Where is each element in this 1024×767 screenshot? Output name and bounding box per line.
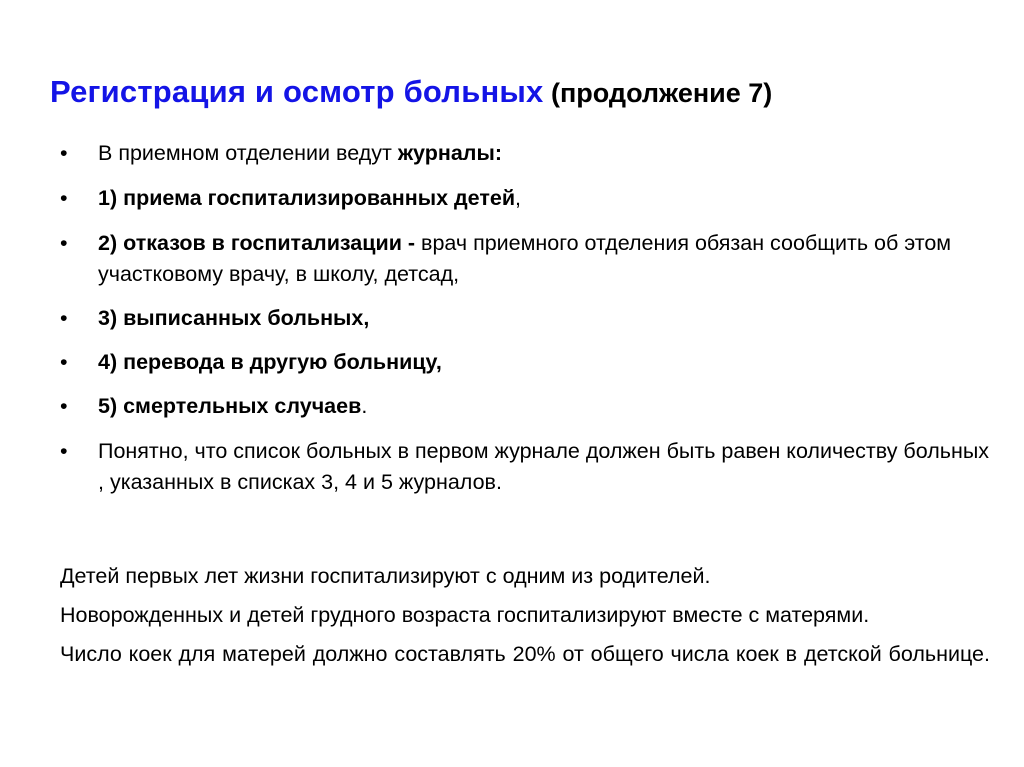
page-title: Регистрация и осмотр больных (продолжени… [50, 74, 990, 111]
list-item-segment: 2) отказов в госпитализации - [98, 231, 421, 255]
list-item-segment: 4) перевода в другую больницу, [98, 350, 442, 374]
bullet-point-icon: • [60, 347, 68, 378]
slide-canvas: Регистрация и осмотр больных (продолжени… [0, 0, 1024, 767]
list-item-text: 3) выписанных больных, [98, 306, 369, 330]
list-item: • 5) смертельных случаев. [56, 391, 996, 422]
bullet-point-icon: • [60, 183, 68, 214]
list-item: • Понятно, что список больных в первом ж… [56, 436, 996, 498]
list-item-text: 2) отказов в госпитализации - врач прием… [98, 231, 951, 286]
bullet-point-icon: • [60, 391, 68, 422]
list-item-segment: , [515, 186, 521, 210]
list-item-segment: журналы: [398, 141, 502, 165]
bullet-point-icon: • [60, 228, 68, 259]
list-item-text: 1) приема госпитализированных детей, [98, 186, 521, 210]
bullet-list: • В приемном отделении ведут журналы: • … [56, 138, 996, 498]
bullet-point-icon: • [60, 138, 68, 169]
paragraph: Новорожденных и детей грудного возраста … [60, 599, 990, 632]
list-item-segment: . [361, 394, 367, 418]
list-item: • 1) приема госпитализированных детей, [56, 183, 996, 214]
page-title-continuation: (продолжение 7) [544, 78, 773, 108]
list-item: • 4) перевода в другую больницу, [56, 347, 996, 378]
list-item-text: В приемном отделении ведут журналы: [98, 141, 502, 165]
paragraph: Число коек для матерей должно составлять… [60, 638, 990, 704]
list-item: • В приемном отделении ведут журналы: [56, 138, 996, 169]
list-item-segment: В приемном отделении ведут [98, 141, 398, 165]
list-item-segment: 5) смертельных случаев [98, 394, 361, 418]
list-item-text: 4) перевода в другую больницу, [98, 350, 442, 374]
list-item: • 2) отказов в госпитализации - врач при… [56, 228, 996, 290]
paragraph-block: Детей первых лет жизни госпитализируют с… [60, 560, 990, 704]
list-item-text: Понятно, что список больных в первом жур… [98, 439, 989, 494]
list-item-segment: Понятно, что список больных в первом жур… [98, 439, 989, 494]
page-title-main: Регистрация и осмотр больных [50, 74, 544, 109]
list-item-segment: 1) приема госпитализированных детей [98, 186, 515, 210]
bullet-point-icon: • [60, 303, 68, 334]
paragraph: Детей первых лет жизни госпитализируют с… [60, 560, 990, 593]
list-item-text: 5) смертельных случаев. [98, 394, 367, 418]
list-item: • 3) выписанных больных, [56, 303, 996, 334]
list-item-segment: 3) выписанных больных, [98, 306, 369, 330]
bullet-point-icon: • [60, 436, 68, 467]
